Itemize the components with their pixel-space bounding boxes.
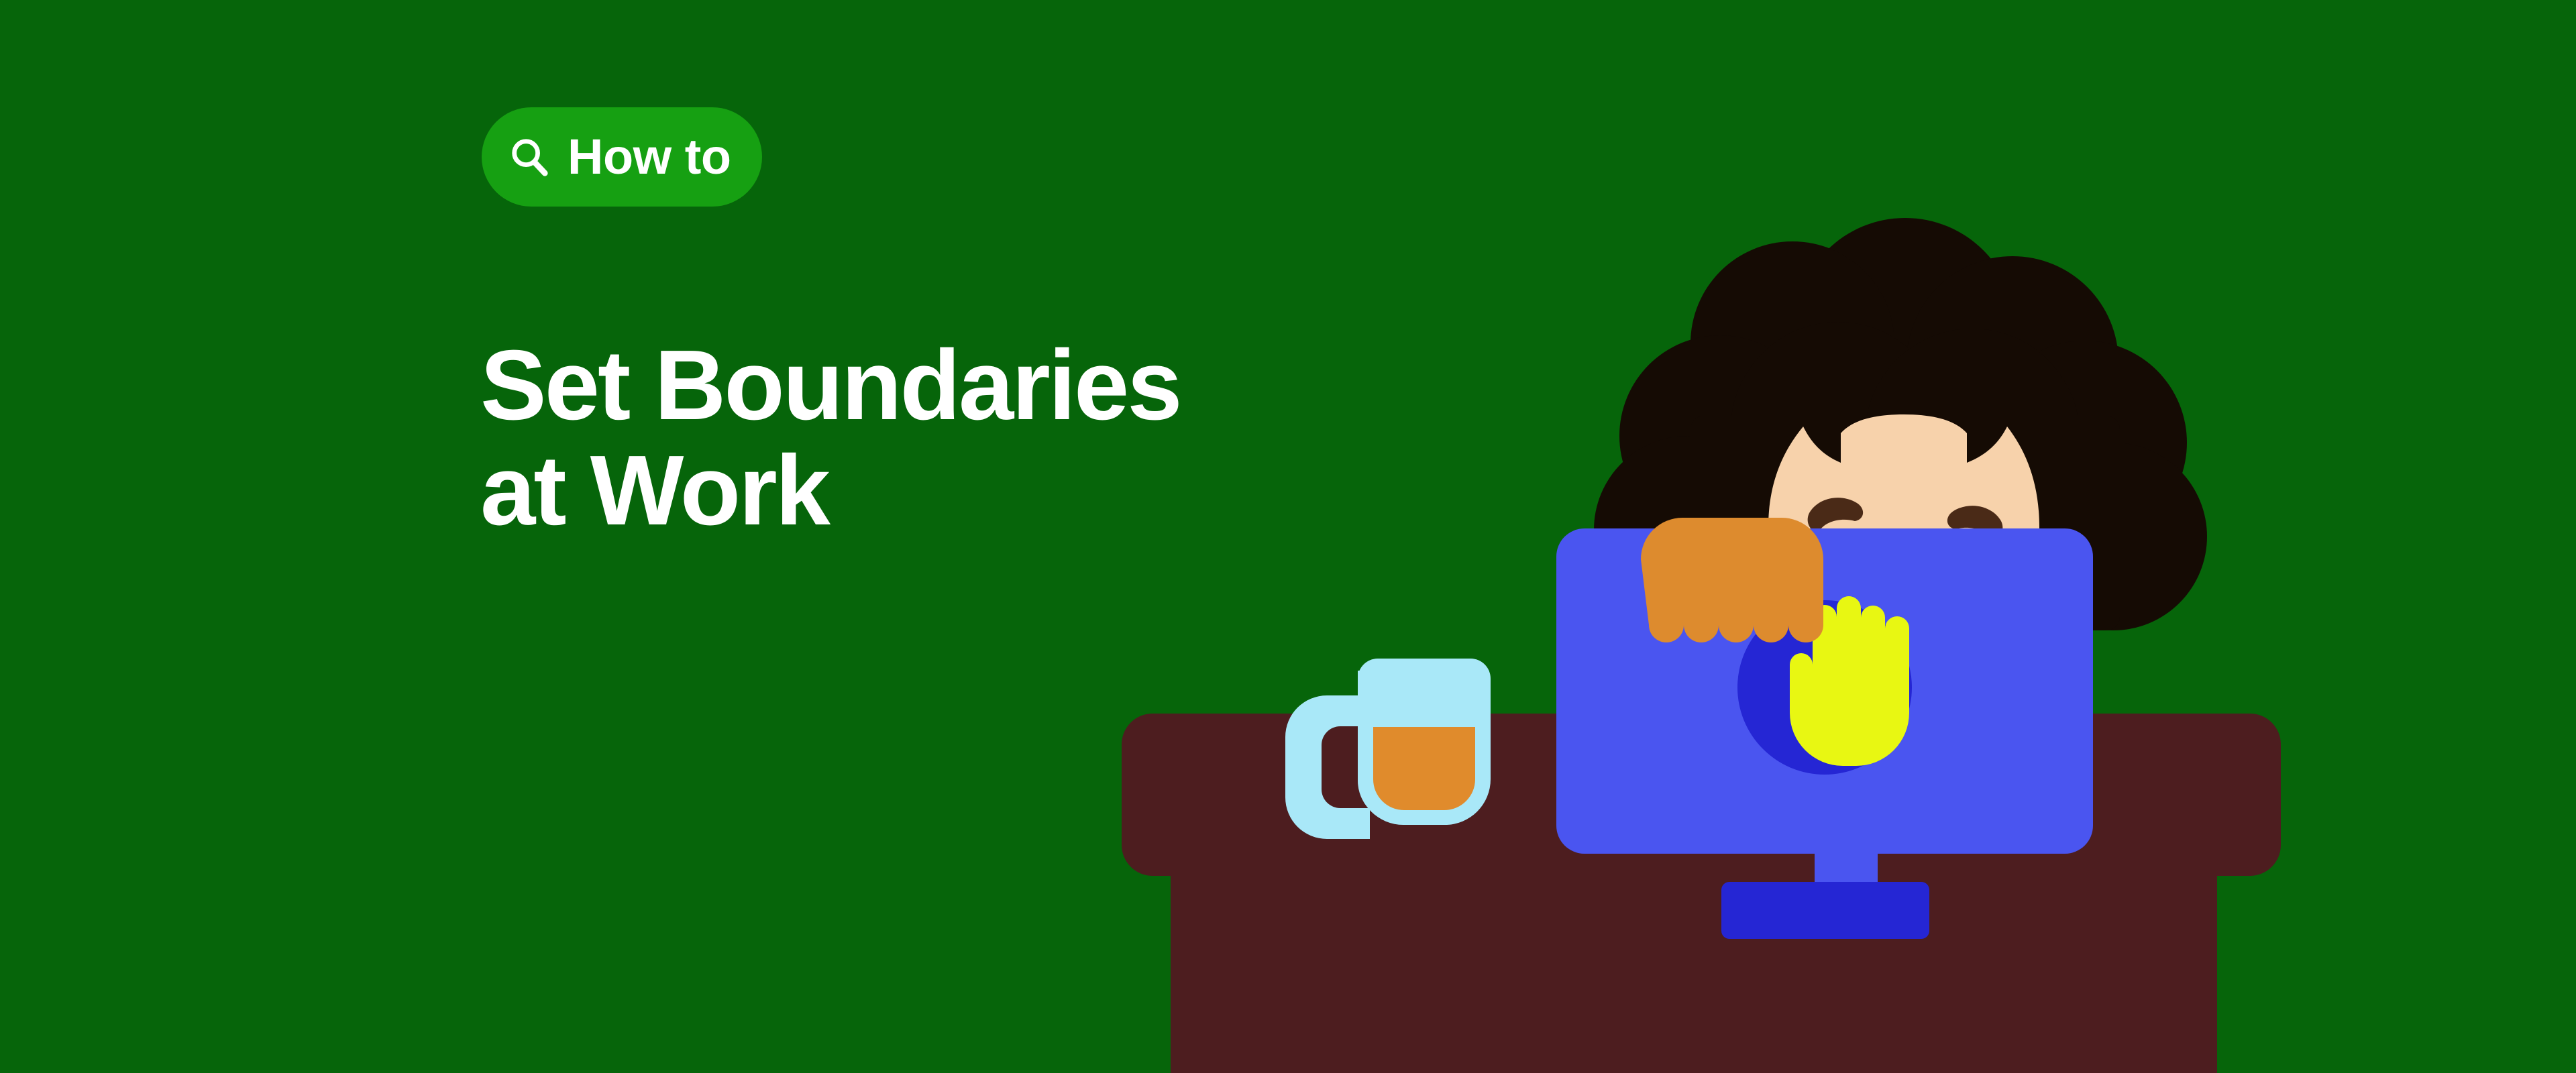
person-hand-on-monitor [1641, 518, 1823, 642]
badge-label: How to [568, 132, 731, 182]
hero-banner: How to Set Boundaries at Work [0, 0, 2576, 1073]
page-title-line-2: at Work [480, 439, 1419, 544]
monitor-base [1721, 882, 1929, 939]
search-icon [508, 136, 550, 178]
desk-front-panel [1171, 842, 2217, 1073]
coffee-liquid [1373, 727, 1475, 810]
page-title-line-1: Set Boundaries [480, 333, 1419, 439]
page-title: Set Boundaries at Work [480, 333, 1419, 544]
how-to-badge[interactable]: How to [482, 107, 762, 207]
